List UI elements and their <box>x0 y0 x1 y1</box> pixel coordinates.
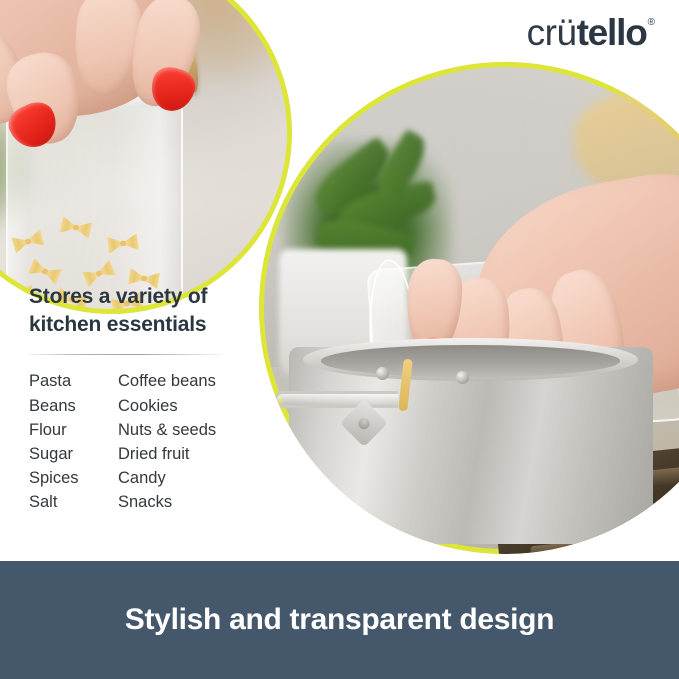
photo-inner-lid <box>0 0 292 314</box>
kitchen-scene <box>259 62 679 554</box>
list-item: Salt <box>29 490 118 514</box>
logo-text-bold: tello <box>577 14 647 51</box>
list-item: Flour <box>29 418 118 442</box>
pot-interior <box>321 345 620 376</box>
photo-inner-pour <box>259 62 679 554</box>
logo-text-light: crü <box>527 14 577 51</box>
stainless-steel-pot <box>289 347 653 544</box>
list-item: Spices <box>29 466 118 490</box>
list-item: Dried fruit <box>118 442 268 466</box>
photo-hand-closing-jar <box>0 0 292 314</box>
list-item: Cookies <box>118 394 268 418</box>
list-item: Beans <box>29 394 118 418</box>
list-item: Pasta <box>29 369 118 393</box>
product-feature-card: crü tello ® Stores a variety of kitchen … <box>0 0 679 679</box>
feature-headline: Stores a variety of kitchen essentials <box>29 283 269 338</box>
list-item: Snacks <box>118 490 268 514</box>
feature-list: Pasta Beans Flour Sugar Spices Salt Coff… <box>29 369 269 513</box>
list-item: Sugar <box>29 442 118 466</box>
divider-line <box>29 354 221 355</box>
feature-list-column-right: Coffee beans Cookies Nuts & seeds Dried … <box>118 369 268 513</box>
feature-text-block: Stores a variety of kitchen essentials P… <box>29 283 269 514</box>
list-item: Coffee beans <box>118 369 268 393</box>
photo-pouring-pasta <box>259 62 679 554</box>
registered-trademark-icon: ® <box>648 18 655 28</box>
feature-list-column-left: Pasta Beans Flour Sugar Spices Salt <box>29 369 118 513</box>
bottom-banner: Stylish and transparent design <box>0 561 679 679</box>
banner-headline: Stylish and transparent design <box>125 603 554 637</box>
list-item: Nuts & seeds <box>118 418 268 442</box>
kitchen-backdrop <box>0 0 292 314</box>
pot-handle <box>274 391 398 409</box>
brand-logo: crü tello ® <box>527 14 655 51</box>
list-item: Candy <box>118 466 268 490</box>
